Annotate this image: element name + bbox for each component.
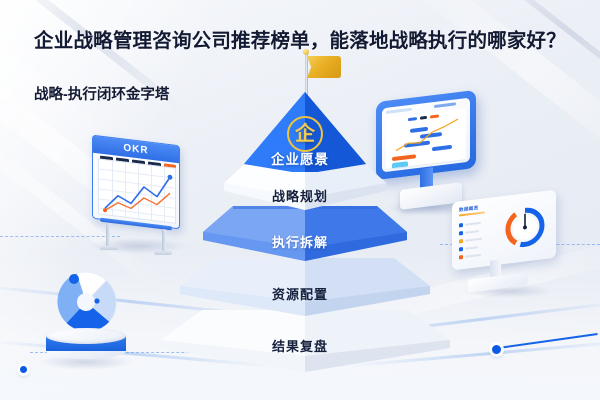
poster-canvas: 企业战略管理咨询公司推荐榜单，能落地战略执行的哪家好？ 战略-执行闭环金字塔 O… [0, 0, 600, 400]
flag-icon [307, 56, 341, 78]
enterprise-badge-icon: 企 [287, 116, 323, 152]
strategy-pyramid: 结果复盘 资源配置 执行拆解 战略规划 [0, 0, 600, 400]
flag-finial-icon [303, 49, 309, 55]
